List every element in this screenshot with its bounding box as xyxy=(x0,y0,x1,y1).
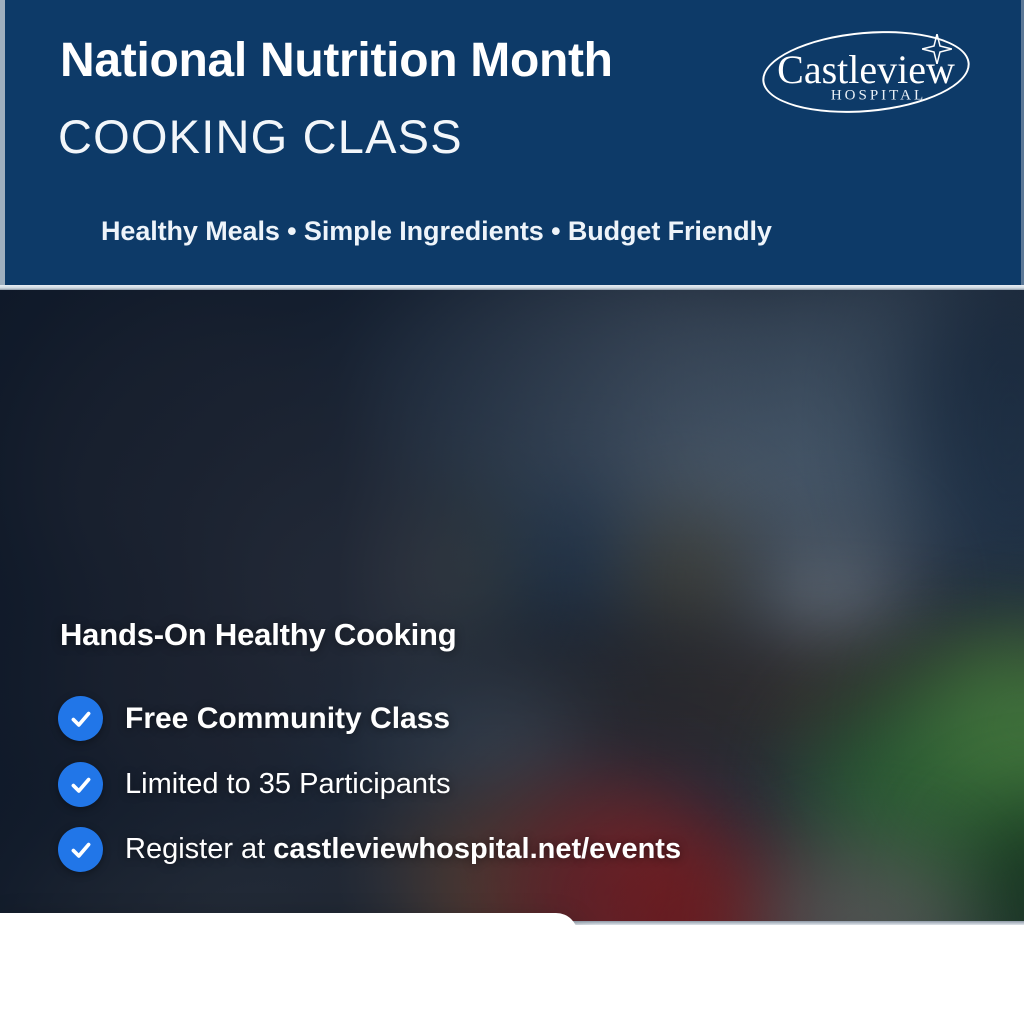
bullet-item-capacity: Limited to 35 Participants xyxy=(58,762,451,807)
logo-subtext: HOSPITAL xyxy=(831,89,926,104)
check-circle-icon xyxy=(58,696,103,741)
flyer-poster: National Nutrition Month COOKING CLASS H… xyxy=(0,0,1024,1024)
check-circle-icon xyxy=(58,827,103,872)
register-url[interactable]: castleviewhospital.net/events xyxy=(273,833,681,865)
header-tagline: Healthy Meals • Simple Ingredients • Bud… xyxy=(101,216,772,247)
bullet-label: Free Community Class xyxy=(125,702,450,736)
check-circle-icon xyxy=(58,762,103,807)
event-details-card: 📅 March 19 ⏰ 6:00 – 8:00 PM 📍 Active Re-… xyxy=(0,913,578,925)
bullet-item-register: Register at castleviewhospital.net/event… xyxy=(58,827,681,872)
hero-photo-kitchen: Hands-On Healthy Cooking Free Community … xyxy=(0,285,1024,925)
page-title: National Nutrition Month xyxy=(60,36,613,86)
register-prefix: Register at xyxy=(125,833,273,865)
sparkle-star-icon xyxy=(922,34,952,64)
footer-sponsors: Castleview HOSPITAL U STATE Extension Ca… xyxy=(0,925,1024,1024)
header-banner: National Nutrition Month COOKING CLASS H… xyxy=(0,0,1024,285)
bullet-label-register: Register at castleviewhospital.net/event… xyxy=(125,833,681,866)
bullet-item-free-class: Free Community Class xyxy=(58,696,450,741)
photo-overlay-content: Hands-On Healthy Cooking Free Community … xyxy=(0,285,1024,925)
bullet-label: Limited to 35 Participants xyxy=(125,768,451,801)
photo-top-divider xyxy=(0,285,1024,290)
section-heading: Hands-On Healthy Cooking xyxy=(60,617,457,653)
castleview-logo-header: Castleview HOSPITAL xyxy=(762,32,970,112)
page-subtitle: COOKING CLASS xyxy=(58,112,463,161)
